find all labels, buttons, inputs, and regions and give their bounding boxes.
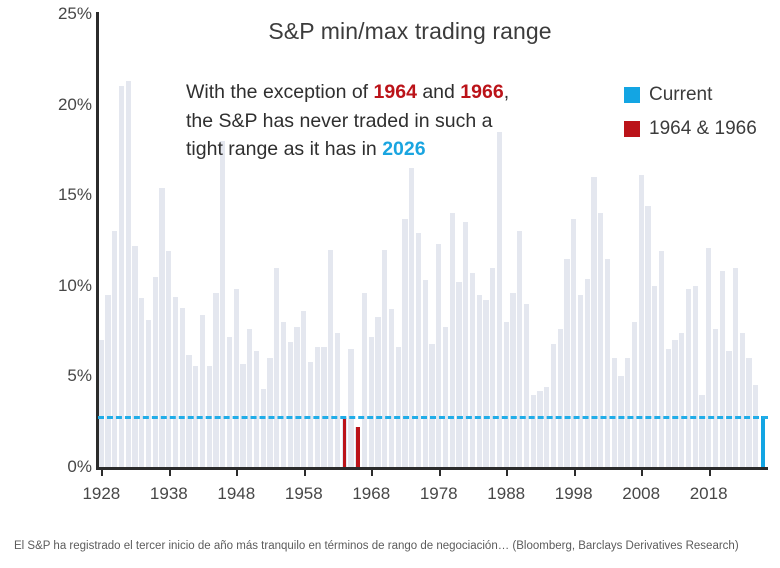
bar-1997 [564,259,569,467]
bar-1965 [348,349,353,467]
legend-item-past[interactable]: 1964 & 1966 [624,118,757,140]
x-tick-mark [101,467,103,476]
x-tick-label: 1968 [352,484,390,504]
bar-1940 [180,308,185,467]
y-axis-tick-labels: 25%20%15%10%5%0% [20,0,92,520]
x-tick-mark [371,467,373,476]
bar-1990 [517,231,522,467]
bar-1976 [423,280,428,467]
bar-1959 [308,362,313,467]
legend-item-current[interactable]: Current [624,84,757,106]
bar-1930 [112,231,117,467]
x-tick-mark [574,467,576,476]
bar-1983 [470,273,475,467]
bar-1974 [409,168,414,467]
bar-2000 [585,279,590,467]
annotation-line-2: the S&P has never traded in such a [186,107,576,136]
y-tick-label: 20% [30,95,92,115]
y-tick-label: 10% [30,276,92,296]
bar-2004 [612,358,617,467]
bar-1943 [200,315,205,467]
bar-1966 [356,427,360,467]
x-tick-label: 1998 [555,484,593,504]
bar-2014 [679,333,684,467]
bar-1985 [483,300,488,467]
bar-1998 [571,219,576,467]
x-tick-mark [439,467,441,476]
x-tick-label: 1958 [285,484,323,504]
bar-1991 [524,304,529,467]
bar-2020 [720,271,725,467]
bar-1957 [294,327,299,467]
bar-2006 [625,358,630,467]
x-tick-mark [506,467,508,476]
legend-swatch-icon [624,121,640,137]
bar-1989 [510,293,515,467]
bar-1935 [146,320,151,467]
bar-1986 [490,268,495,467]
bar-1947 [227,337,232,467]
bar-2009 [645,206,650,467]
x-tick-mark [169,467,171,476]
bar-1963 [335,333,340,467]
bar-1978 [436,244,441,467]
x-tick-label: 1928 [82,484,120,504]
bar-1964 [343,418,347,467]
bar-2015 [686,289,691,467]
chart-figure: S&P min/max trading range 25%20%15%10%5%… [0,0,780,520]
bar-2012 [666,349,671,467]
x-tick-label: 1948 [217,484,255,504]
bar-1939 [173,297,178,467]
bar-2011 [659,251,664,467]
bar-1951 [254,351,259,467]
bar-2005 [618,376,623,467]
bar-1999 [578,295,583,467]
bar-2003 [605,259,610,467]
y-tick-label: 0% [30,457,92,477]
bar-1958 [301,311,306,467]
x-tick-label: 1938 [150,484,188,504]
bar-2022 [733,268,738,467]
bar-2018 [706,248,711,467]
bar-2002 [598,213,603,467]
bar-1971 [389,309,394,467]
bar-1931 [119,86,124,467]
bar-2013 [672,340,677,467]
bar-2008 [639,175,644,467]
x-tick-label: 2018 [690,484,728,504]
bar-1962 [328,250,333,467]
x-tick-label: 2008 [622,484,660,504]
bar-1936 [153,277,158,467]
bar-1952 [261,389,266,467]
bar-1955 [281,322,286,467]
bar-1960 [315,347,320,467]
bar-1977 [429,344,434,467]
bar-1984 [477,295,482,467]
bar-2007 [632,322,637,467]
legend-label: 1964 & 1966 [649,118,757,140]
bar-2024 [746,358,751,467]
bar-1970 [382,250,387,467]
bar-1993 [537,391,542,467]
bar-1980 [450,213,455,467]
bar-1981 [456,282,461,467]
annotation-line-3: tight range as it has in 2026 [186,135,576,164]
bar-2026 [761,416,765,467]
bar-2001 [591,177,596,467]
annotation-line-1: With the exception of 1964 and 1966, [186,78,576,107]
bar-2021 [726,351,731,467]
annotation-text: With the exception of 1964 and 1966, the… [186,78,576,164]
bar-1996 [558,329,563,467]
chart-legend: Current1964 & 1966 [624,84,757,152]
annotation-text-part-4: tight range as it has in [186,138,382,160]
bar-1979 [443,327,448,467]
bar-1934 [139,298,144,467]
bar-1956 [288,342,293,467]
bar-1954 [274,268,279,467]
x-tick-mark [236,467,238,476]
bar-1945 [213,293,218,467]
legend-label: Current [649,84,712,106]
bar-2016 [693,286,698,467]
bar-1972 [396,347,401,467]
x-tick-mark [709,467,711,476]
y-tick-label: 5% [30,366,92,386]
bar-2017 [699,395,704,467]
bar-1950 [247,329,252,467]
bar-1948 [234,289,239,467]
bar-1988 [504,322,509,467]
bar-2010 [652,286,657,467]
y-tick-label: 25% [30,4,92,24]
bar-2019 [713,329,718,467]
x-tick-label: 1978 [420,484,458,504]
bar-1929 [105,295,110,467]
figure-caption: El S&P ha registrado el tercer inicio de… [14,540,770,552]
x-axis-line [96,467,768,470]
bar-1932 [126,81,131,467]
bar-1969 [375,317,380,467]
annotation-text-part-1: With the exception of [186,81,374,103]
x-tick-mark [641,467,643,476]
bar-1941 [186,355,191,467]
x-tick-mark [304,467,306,476]
bar-1992 [531,395,536,467]
bar-2025 [753,385,758,467]
bar-1975 [416,233,421,467]
annotation-text-part-2: and [417,81,460,103]
threshold-dashed-line [98,416,768,419]
bar-1973 [402,219,407,467]
x-tick-label: 1988 [487,484,525,504]
bar-1982 [463,222,468,467]
bar-1961 [321,347,326,467]
bar-1968 [369,337,374,467]
bar-1953 [267,358,272,467]
annotation-year-2026: 2026 [382,138,425,160]
bar-1994 [544,387,549,467]
bar-2023 [740,333,745,467]
bar-1938 [166,251,171,467]
legend-swatch-icon [624,87,640,103]
annotation-text-part-3: , [504,81,509,103]
y-tick-label: 15% [30,185,92,205]
bar-1928 [99,340,104,467]
annotation-year-1966: 1966 [460,81,503,103]
bar-1995 [551,344,556,467]
bar-1967 [362,293,367,467]
bar-1933 [132,246,137,467]
bar-1937 [159,188,164,467]
annotation-year-1964: 1964 [374,81,417,103]
